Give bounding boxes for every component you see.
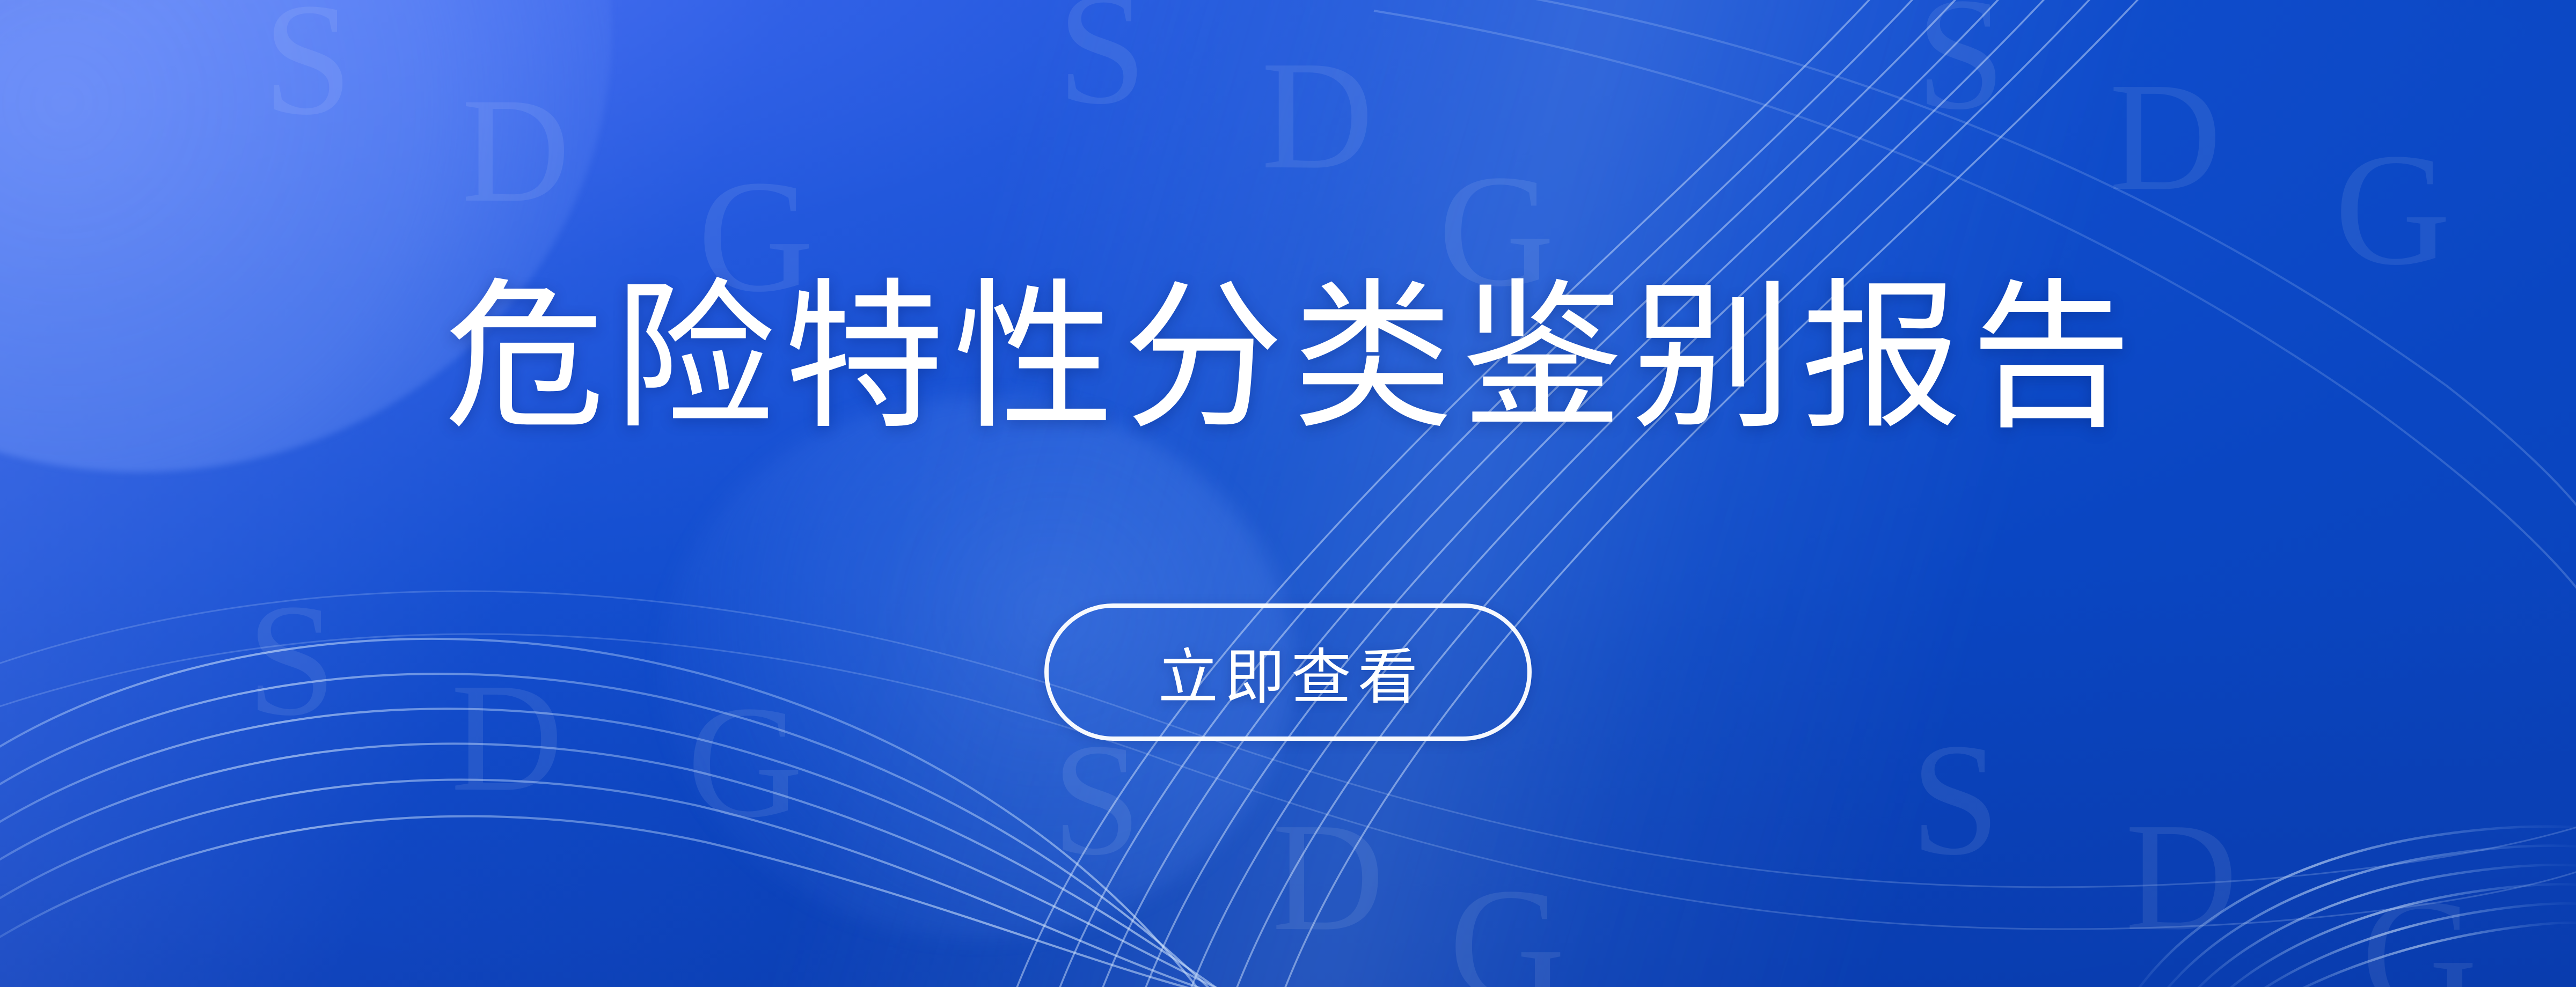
view-now-button[interactable]: 立即查看	[1044, 603, 1532, 741]
promo-banner: SDGSDGSDGSDGSDGSDG 危险特性分类鉴别报告 立即查看	[0, 0, 2576, 987]
banner-content: 危险特性分类鉴别报告 立即查看	[0, 0, 2576, 987]
page-title: 危险特性分类鉴别报告	[436, 264, 2140, 451]
